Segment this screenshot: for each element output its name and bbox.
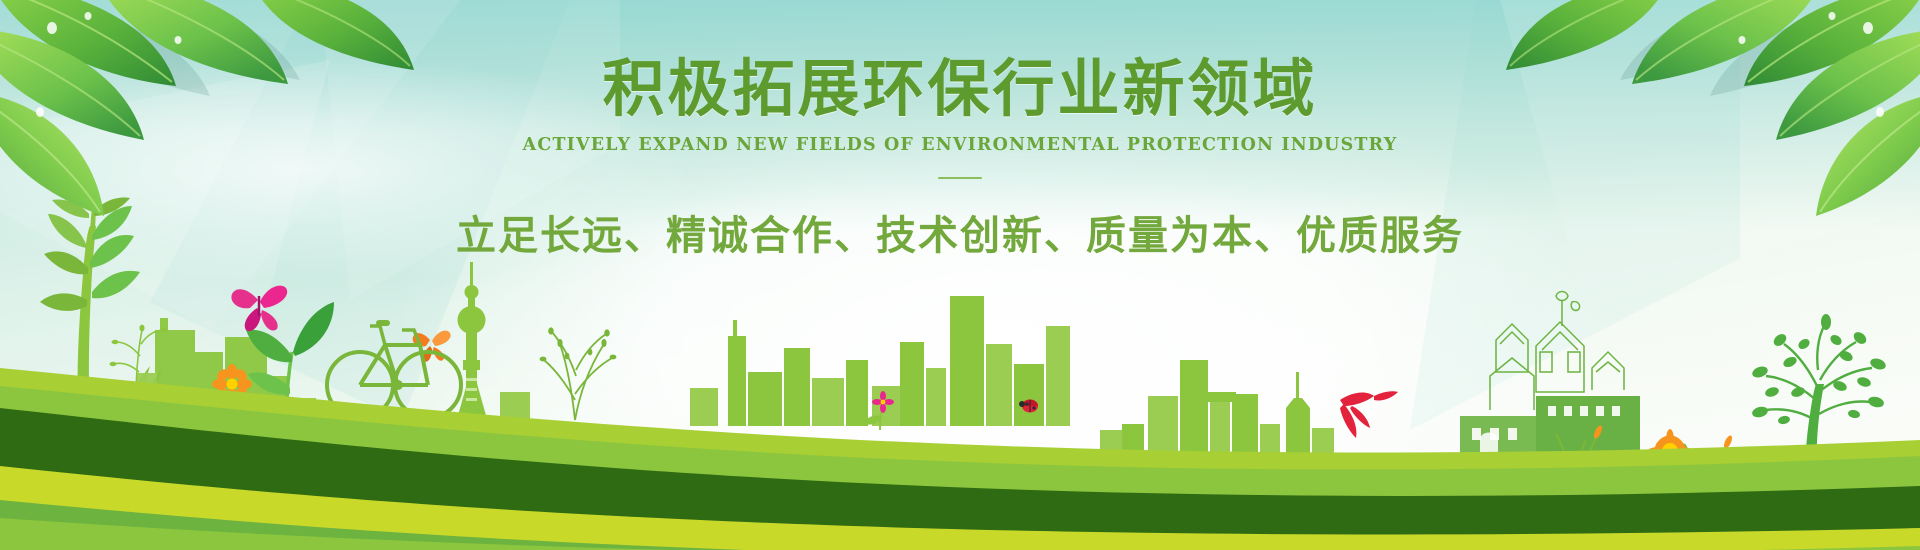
page-subtitle: ACTIVELY EXPAND NEW FIELDS OF ENVIRONMEN… <box>0 135 1920 155</box>
eco-banner: 积极拓展环保行业新领域 ACTIVELY EXPAND NEW FIELDS O… <box>0 0 1920 550</box>
title-divider <box>938 177 982 179</box>
wave-bands <box>0 290 1920 550</box>
page-title: 积极拓展环保行业新领域 <box>0 0 1920 121</box>
banner-text-block: 积极拓展环保行业新领域 ACTIVELY EXPAND NEW FIELDS O… <box>0 0 1920 261</box>
company-slogan: 立足长远、精诚合作、技术创新、质量为本、优质服务 <box>0 203 1920 261</box>
